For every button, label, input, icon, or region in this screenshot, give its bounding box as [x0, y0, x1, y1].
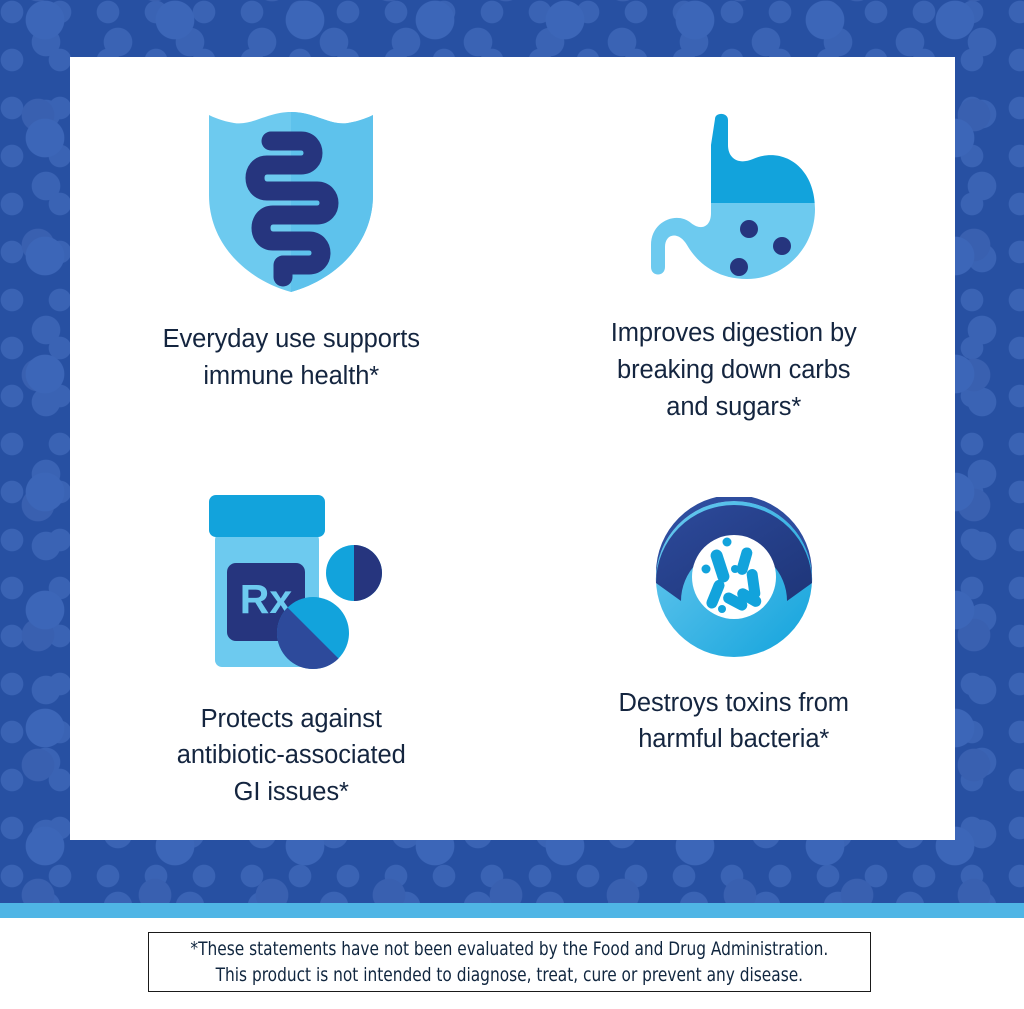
features-card: Everyday use supports immune health*: [70, 57, 955, 840]
accent-divider-strip: [0, 903, 1024, 918]
rx-bottle-pills-icon: Rx: [191, 487, 391, 679]
disclaimer-line-1: *These statements have not been evaluate…: [191, 936, 829, 962]
disclaimer-box: *These statements have not been evaluate…: [148, 932, 871, 992]
shield-intestine-icon: [205, 109, 377, 295]
stomach-icon: [643, 109, 825, 289]
feature-caption: Improves digestion by breaking down carb…: [611, 315, 857, 426]
pill-large: [277, 597, 349, 669]
feature-caption: Protects against antibiotic-associated G…: [177, 701, 406, 812]
feature-caption: Destroys toxins from harmful bacteria*: [619, 685, 849, 759]
feature-digestion: Improves digestion by breaking down carb…: [513, 57, 956, 449]
feature-antibiotic-protection: Rx Protects against antibiotic-associate…: [70, 449, 513, 841]
infographic-page: Everyday use supports immune health*: [0, 0, 1024, 1009]
pill-small: [326, 545, 382, 601]
feature-immune-health: Everyday use supports immune health*: [70, 57, 513, 449]
petri-dish-bacteria-icon: [652, 497, 816, 661]
footer-area: *These statements have not been evaluate…: [0, 918, 1024, 1009]
disclaimer-line-2: This product is not intended to diagnose…: [216, 962, 803, 988]
feature-caption: Everyday use supports immune health*: [163, 321, 420, 395]
feature-toxin-destruction: Destroys toxins from harmful bacteria*: [513, 449, 956, 841]
